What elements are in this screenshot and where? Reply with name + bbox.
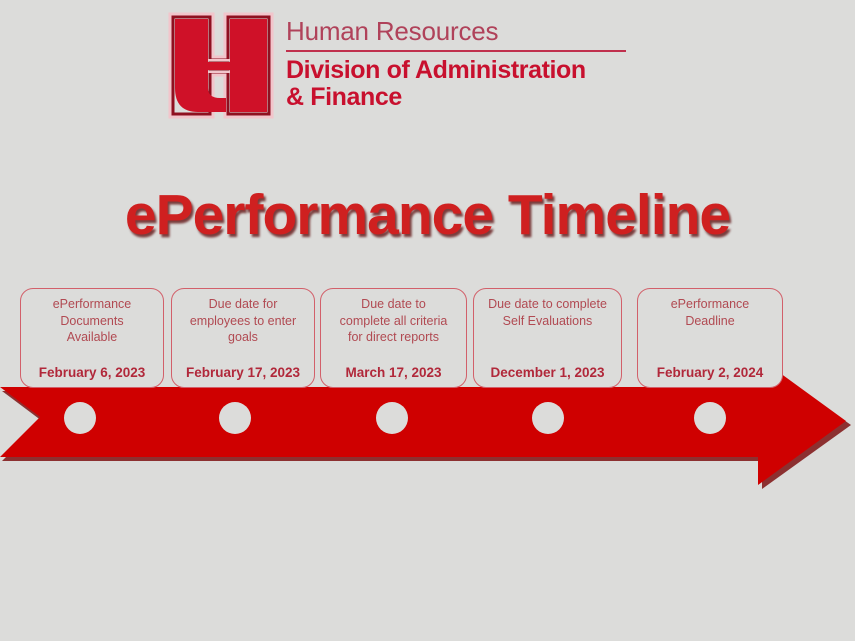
timeline-node-dot-5[interactable] [694, 402, 726, 434]
milestone-description-line: Due date for [178, 296, 308, 313]
milestone-card-2[interactable]: Due date foremployees to entergoalsFebru… [171, 288, 315, 388]
milestone-description-3: Due date tocomplete all criteriafor dire… [327, 296, 460, 346]
milestone-description-line: Available [27, 329, 157, 346]
milestone-description-line: Due date to [327, 296, 460, 313]
milestone-description-line: complete all criteria [327, 313, 460, 330]
brand-line-division: Division of Administration & Finance [286, 57, 626, 111]
milestone-date-5: February 2, 2024 [638, 365, 782, 380]
timeline-node-dot-2[interactable] [219, 402, 251, 434]
page-title: ePerformance Timeline [0, 182, 855, 248]
milestone-description-line: ePerformance [27, 296, 157, 313]
milestone-description-line: Self Evaluations [480, 313, 615, 330]
milestone-description-line: ePerformance [644, 296, 776, 313]
milestone-date-3: March 17, 2023 [321, 365, 466, 380]
milestone-description-line: goals [178, 329, 308, 346]
milestone-description-line: Documents [27, 313, 157, 330]
timeline-node-dot-4[interactable] [532, 402, 564, 434]
milestone-card-3[interactable]: Due date tocomplete all criteriafor dire… [320, 288, 467, 388]
milestone-description-line: employees to enter [178, 313, 308, 330]
milestone-description-line: for direct reports [327, 329, 460, 346]
timeline-node-dot-3[interactable] [376, 402, 408, 434]
milestone-card-5[interactable]: ePerformanceDeadlineFebruary 2, 2024 [637, 288, 783, 388]
brand-line-division-part-b: & Finance [286, 84, 626, 111]
milestone-description-line: Deadline [644, 313, 776, 330]
uh-interlocking-logo-icon [168, 12, 274, 120]
milestone-description-line: Due date to complete [480, 296, 615, 313]
milestone-description-1: ePerformanceDocumentsAvailable [27, 296, 157, 346]
brand-divider-rule [286, 50, 626, 52]
brand-line-human-resources: Human Resources [286, 18, 626, 45]
timeline-node-dot-1[interactable] [64, 402, 96, 434]
brand-header: Human Resources Division of Administrati… [168, 12, 626, 120]
milestone-card-4[interactable]: Due date to completeSelf EvaluationsDece… [473, 288, 622, 388]
milestone-date-4: December 1, 2023 [474, 365, 621, 380]
milestone-description-2: Due date foremployees to entergoals [178, 296, 308, 346]
milestone-date-1: February 6, 2023 [21, 365, 163, 380]
brand-line-division-part-a: Division of Administration [286, 57, 626, 84]
milestone-date-2: February 17, 2023 [172, 365, 314, 380]
brand-text-block: Human Resources Division of Administrati… [286, 12, 626, 111]
milestone-description-5: ePerformanceDeadline [644, 296, 776, 329]
milestone-description-4: Due date to completeSelf Evaluations [480, 296, 615, 329]
milestone-card-1[interactable]: ePerformanceDocumentsAvailableFebruary 6… [20, 288, 164, 388]
